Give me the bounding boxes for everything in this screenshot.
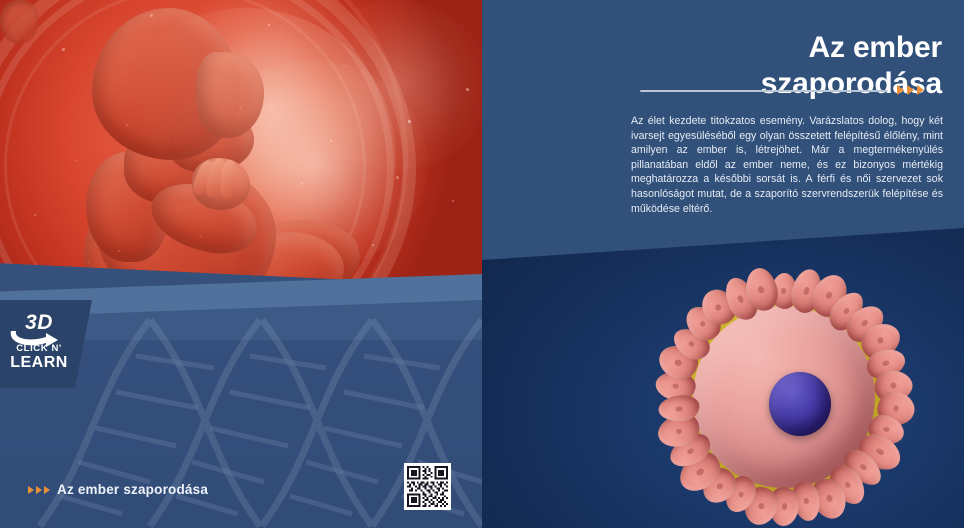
intro-paragraph: Az élet kezdete titokzatos esemény. Vará… [631,114,943,216]
fetus-ear [0,0,38,44]
slide-root: 3D CLICK N' LEARN Az ember szaporodása [0,0,964,528]
light-particle [150,14,153,17]
triangle-right-icon [917,85,924,95]
light-particle [330,140,332,142]
light-particle [466,88,469,91]
fetus-in-womb-illustration [0,0,482,286]
fetus-highlight [96,8,396,286]
header-arrows [897,85,924,95]
fetus-figure [0,0,482,286]
footer-title: Az ember szaporodása [57,482,208,497]
qr-code-icon [407,466,448,507]
light-particle [408,120,411,123]
triangle-right-icon [36,486,42,494]
footer: Az ember szaporodása [28,482,208,497]
light-particle [300,182,303,185]
badge-content: 3D CLICK N' LEARN [0,310,78,382]
light-particle [452,200,454,202]
nucleus [769,372,831,436]
footer-arrows [28,486,50,494]
title-divider [640,90,888,92]
rotate-arrow-icon [6,327,66,349]
triangle-right-icon [28,486,34,494]
badge-3d-row: 3D [0,310,78,344]
triangle-right-icon [907,85,914,95]
left-panel: 3D CLICK N' LEARN Az ember szaporodása [0,0,482,528]
light-particle [268,24,270,26]
light-particle [372,244,374,246]
qr-code[interactable] [404,463,451,510]
triangle-right-icon [44,486,50,494]
ovum-cell-illustration [645,272,937,522]
light-particle [396,176,399,179]
light-particle [62,48,65,51]
light-particle [34,214,36,216]
light-particle [126,124,128,126]
triangle-right-icon [897,85,904,95]
light-particle [118,250,120,252]
badge-learn-label: LEARN [0,354,78,371]
